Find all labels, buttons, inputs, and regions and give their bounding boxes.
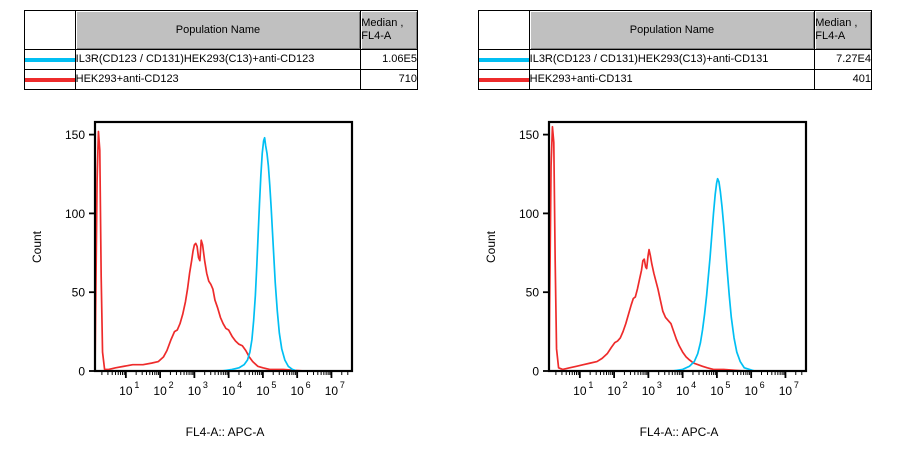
table-row: IL3R(CD123 / CD131)HEK293(C13)+anti-CD12… [25,50,418,70]
y-tick-label: 150 [519,128,539,142]
series-color-swatch [25,58,75,62]
series-name-cell: HEK293+anti-CD131 [529,70,815,90]
x-tick-exponent: 6 [306,380,311,390]
x-tick-exponent: 4 [237,380,242,390]
series-swatch-cell [25,70,76,90]
x-tick-label: 10 [325,384,339,398]
series-name-cell: HEK293+anti-CD123 [75,70,361,90]
x-tick-exponent: 1 [134,380,139,390]
header-median-line1: Median , [361,17,417,30]
series-median-cell: 7.27E4 [815,50,872,70]
series-color-swatch [25,78,75,82]
table-header-row: Population Name Median , FL4-A [479,11,872,50]
x-tick-label: 10 [153,384,167,398]
table-row: HEK293+anti-CD131 401 [479,70,872,90]
x-tick-exponent: 1 [588,380,593,390]
x-tick-label: 10 [188,384,202,398]
x-tick-label: 10 [573,384,587,398]
y-tick-label: 50 [526,286,540,300]
figure-panel-right: Population Name Median , FL4-A IL3R(CD12… [454,0,907,453]
series-median-cell: 710 [361,70,418,90]
x-tick-label: 10 [119,384,133,398]
y-tick-label: 150 [65,128,85,142]
y-tick-label: 100 [519,207,539,221]
header-population-name: Population Name [529,11,815,50]
x-tick-label: 10 [710,384,724,398]
series-color-swatch [479,58,529,62]
series-swatch-cell [25,50,76,70]
table-row: HEK293+anti-CD123 710 [25,70,418,90]
x-tick-label: 10 [222,384,236,398]
table-row: IL3R(CD123 / CD131)HEK293(C13)+anti-CD13… [479,50,872,70]
series-median-cell: 1.06E5 [361,50,418,70]
x-tick-exponent: 3 [657,380,662,390]
population-legend-table: Population Name Median , FL4-A IL3R(CD12… [24,10,418,90]
x-axis-label: FL4-A:: APC-A [95,425,355,439]
series-swatch-cell [479,50,530,70]
header-median-line2: FL4-A [815,30,871,43]
x-tick-exponent: 5 [725,380,730,390]
x-tick-exponent: 6 [760,380,765,390]
x-tick-exponent: 7 [340,380,345,390]
x-tick-exponent: 3 [203,380,208,390]
y-tick-label: 50 [72,286,86,300]
x-tick-label: 10 [607,384,621,398]
x-tick-label: 10 [744,384,758,398]
series-median-cell: 401 [815,70,872,90]
x-tick-exponent: 4 [691,380,696,390]
series-color-swatch [479,78,529,82]
x-tick-label: 10 [290,384,304,398]
header-median: Median , FL4-A [815,11,872,50]
x-tick-label: 10 [779,384,793,398]
x-tick-label: 10 [676,384,690,398]
plot-canvas: 050100150101102103104105106107 [474,118,814,428]
x-tick-exponent: 2 [623,380,628,390]
header-population-name: Population Name [75,11,361,50]
header-median-line1: Median , [815,17,871,30]
plot-canvas: 050100150101102103104105106107 [20,118,360,428]
x-tick-exponent: 5 [271,380,276,390]
y-tick-label: 100 [65,207,85,221]
y-tick-label: 0 [78,365,85,379]
x-tick-label: 10 [642,384,656,398]
header-swatch [479,11,530,50]
y-tick-label: 0 [532,365,539,379]
x-tick-exponent: 7 [794,380,799,390]
series-swatch-cell [479,70,530,90]
x-axis-label: FL4-A:: APC-A [549,425,809,439]
figure-panel-left: Population Name Median , FL4-A IL3R(CD12… [0,0,453,453]
series-name-cell: IL3R(CD123 / CD131)HEK293(C13)+anti-CD12… [75,50,361,70]
population-legend-table: Population Name Median , FL4-A IL3R(CD12… [478,10,872,90]
x-tick-label: 10 [256,384,270,398]
x-tick-exponent: 2 [169,380,174,390]
header-median: Median , FL4-A [361,11,418,50]
table-header-row: Population Name Median , FL4-A [25,11,418,50]
header-swatch [25,11,76,50]
header-median-line2: FL4-A [361,30,417,43]
series-name-cell: IL3R(CD123 / CD131)HEK293(C13)+anti-CD13… [529,50,815,70]
